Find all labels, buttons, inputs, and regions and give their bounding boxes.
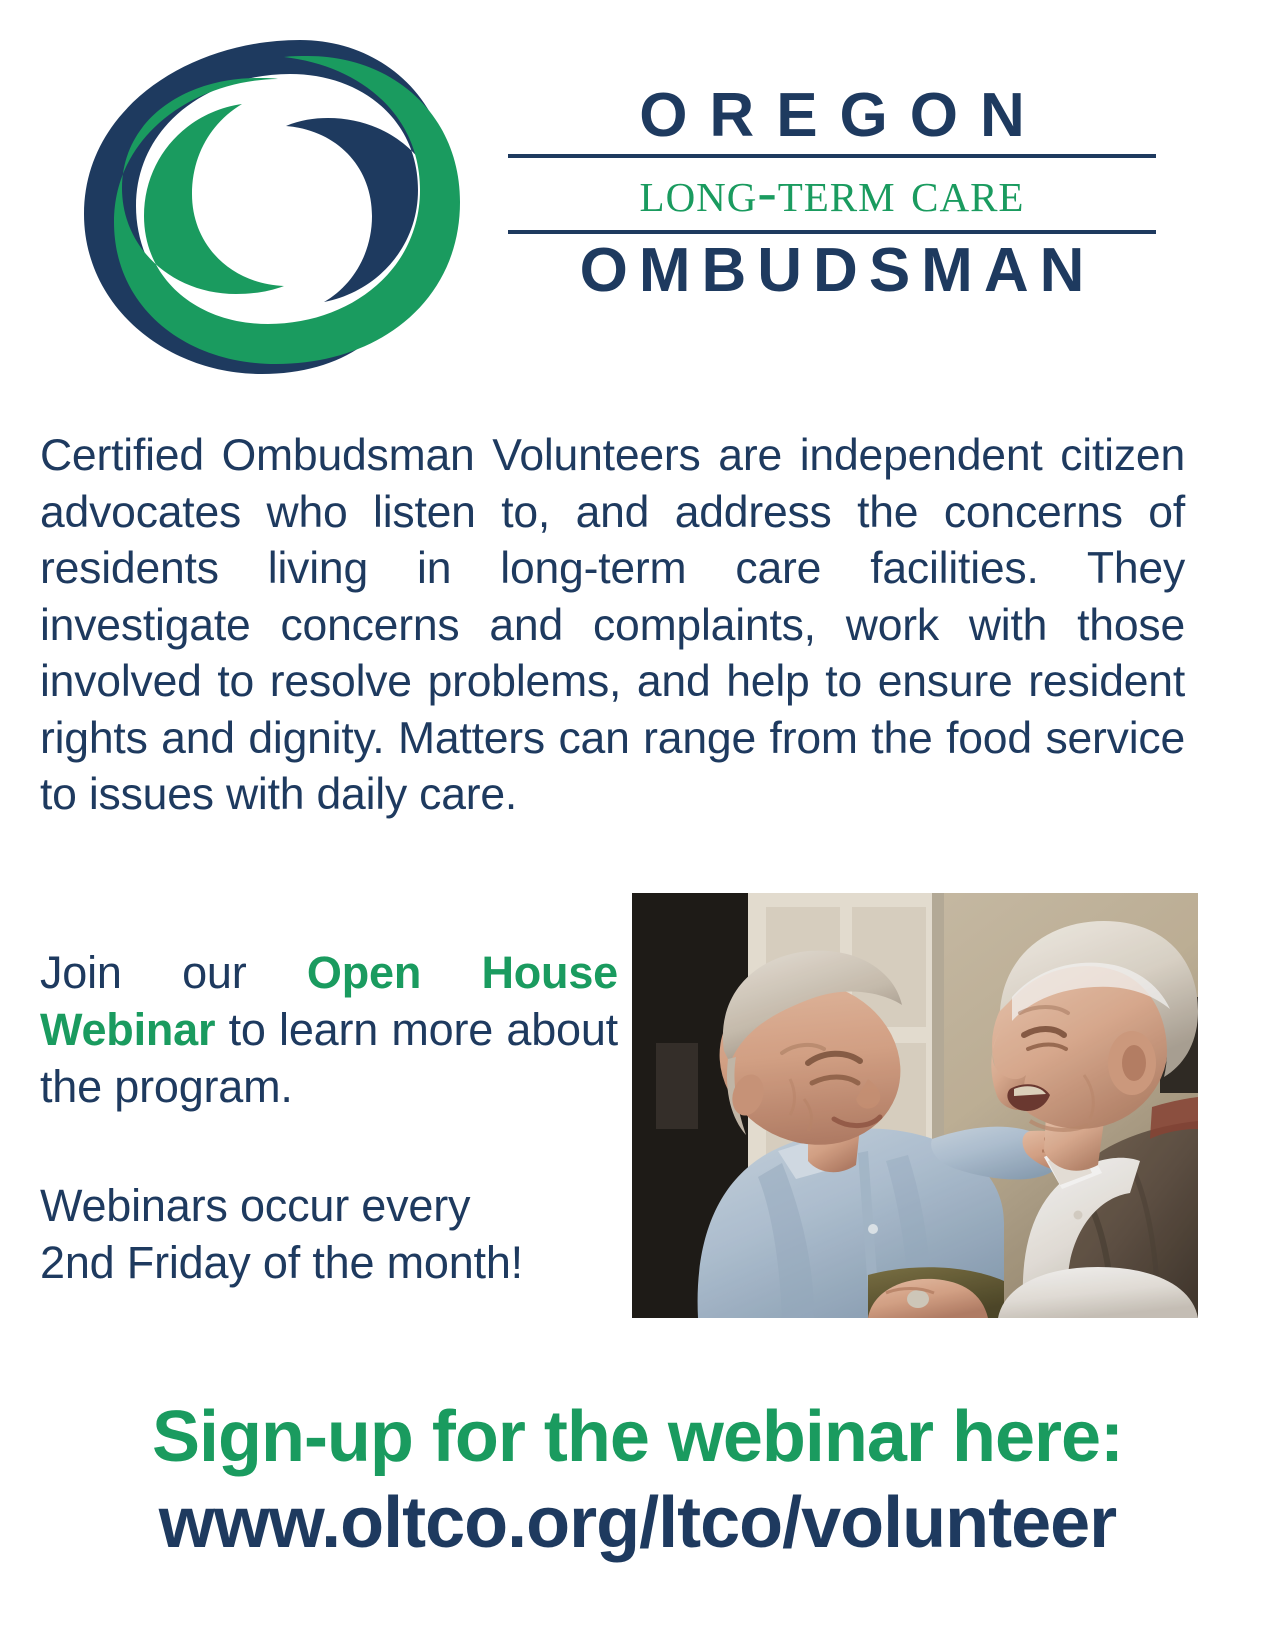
cta-headline: Sign-up for the webinar here: — [0, 1395, 1275, 1479]
webinar-photo — [632, 893, 1198, 1318]
middle-text-column: Join our Open House Webinar to learn mor… — [40, 944, 618, 1291]
promo-paragraph: Join our Open House Webinar to learn mor… — [40, 944, 618, 1115]
call-to-action: Sign-up for the webinar here: www.oltco.… — [0, 1395, 1275, 1565]
schedule-paragraph: Webinars occur every 2nd Friday of the m… — [40, 1177, 618, 1291]
logo-divider-top — [508, 154, 1156, 158]
schedule-line-2: 2nd Friday of the month! — [40, 1234, 618, 1291]
logo-line-long-term-care: Long-Term Care — [508, 162, 1156, 223]
oregon-ltco-spiral-o-logo-icon — [62, 34, 472, 379]
cta-url[interactable]: www.oltco.org/ltco/volunteer — [0, 1481, 1275, 1565]
flyer-page: OREGON Long-Term Care OMBUDSMAN Certifie… — [0, 0, 1275, 1650]
promo-lead-text: Join our — [40, 947, 307, 998]
logo-wordmark: OREGON Long-Term Care OMBUDSMAN — [508, 84, 1156, 303]
header: OREGON Long-Term Care OMBUDSMAN — [0, 0, 1275, 400]
intro-paragraph: Certified Ombudsman Volunteers are indep… — [40, 428, 1185, 824]
logo-line-ombudsman: OMBUDSMAN — [508, 238, 1156, 303]
logo-divider-bottom — [508, 230, 1156, 234]
middle-section: Join our Open House Webinar to learn mor… — [0, 880, 1275, 1330]
logo-line-oregon: OREGON — [508, 84, 1156, 147]
schedule-line-1: Webinars occur every — [40, 1180, 470, 1231]
